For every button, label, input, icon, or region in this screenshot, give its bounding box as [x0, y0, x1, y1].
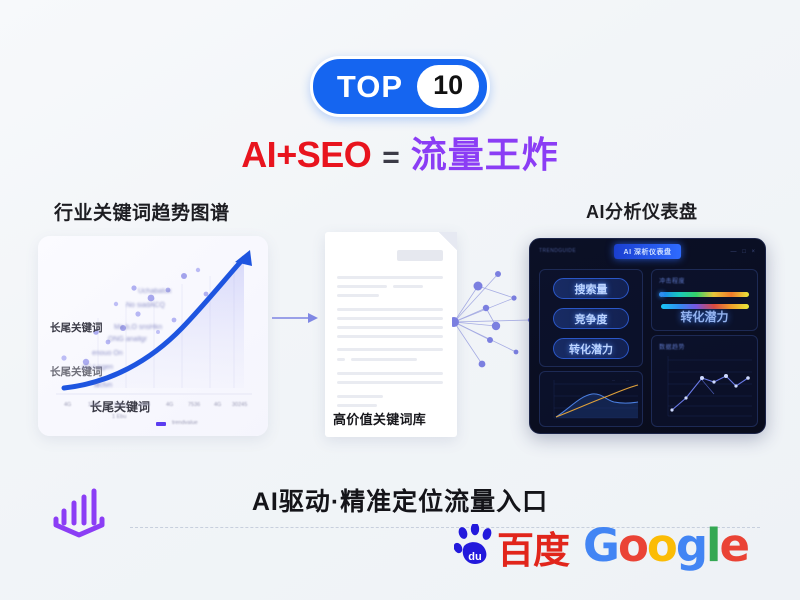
doc-line [337, 294, 379, 297]
axis-caption: 1 Ebu [112, 414, 126, 420]
metrics-panel: 搜索量 竞争度 转化潜力 [539, 269, 643, 367]
axis-tick-2: 1145 [88, 402, 100, 408]
cloud-term-7: alctvn [94, 382, 112, 389]
cloud-term-5: enouo On [92, 350, 123, 357]
partner-logos: du 百度 Google [454, 524, 748, 568]
window-controls[interactable]: — □ × [731, 249, 757, 255]
doc-line [337, 381, 443, 384]
area-legend-a: — [612, 378, 615, 382]
axis-tick-7: 4G [214, 402, 221, 408]
ai-dashboard-card: TRENDGUIDE AI 深析仪表盘 — □ × 搜索量 竞争度 转化潜力 冲… [529, 238, 766, 434]
doc-line [351, 358, 417, 361]
page-fold-corner [439, 232, 457, 250]
baidu-logo: du 百度 [454, 524, 569, 568]
doc-header-block [397, 250, 443, 261]
baidu-du-text: du [468, 551, 481, 563]
gradient-bar-1 [661, 292, 749, 297]
area-legend-b: — [626, 378, 629, 382]
metric-button-search-volume[interactable]: 搜索量 [553, 278, 629, 299]
flow-arrow-1 [272, 310, 320, 331]
axis-tick-3: 031-L [114, 402, 128, 408]
dashboard-titlebar: TRENDGUIDE AI 深析仪表盘 — □ × [530, 239, 765, 265]
doc-line [393, 285, 423, 288]
cloud-term-6: eC-t-ngen [82, 364, 113, 371]
badge-number: 10 [417, 65, 479, 108]
metric-button-competition[interactable]: 竞争度 [553, 308, 629, 329]
badge-label: TOP [337, 71, 417, 102]
dashboard-header-badge: AI 深析仪表盘 [614, 244, 682, 259]
cloud-term-3: Ma,b,O snsHkn [114, 324, 162, 331]
heading-trend-chart: 行业关键词趋势图谱 [54, 198, 230, 225]
axis-tick-8: 30245 [232, 402, 247, 408]
google-letter-g2: g [676, 519, 706, 572]
axis-tick-5: 4G [166, 402, 173, 408]
keyword-document-card: 高价值关键词库 [325, 232, 457, 437]
heading-ai-dashboard: AI分析仪表盘 [586, 198, 698, 224]
google-letter-g1: G [583, 519, 618, 572]
doc-line [337, 317, 443, 320]
doc-line [337, 276, 443, 279]
doc-bullet [337, 358, 345, 361]
axis-tick-6: 7536 [188, 402, 200, 408]
bottom-tagline: AI驱动·精准定位流量入口 [0, 482, 800, 518]
doc-line [337, 285, 387, 288]
cloud-term-1: Uchabatux [138, 288, 171, 295]
title-ai-seo: AI+SEO [241, 134, 371, 176]
gauge-marker-dot [659, 292, 664, 297]
google-letter-l: l [706, 519, 719, 572]
axis-tick-4: 1844 [138, 402, 150, 408]
doc-line [337, 326, 443, 329]
legend-label: trendvalue [172, 420, 198, 426]
top-badge-container: TOP 10 [0, 56, 800, 117]
cloud-term-2: No siadACQ [126, 302, 165, 309]
area-chart-panel: — — [539, 371, 643, 427]
baidu-paw-icon: du [454, 524, 496, 568]
doc-line [337, 335, 443, 338]
title-equals: = [382, 141, 400, 175]
impact-gauge-panel: 冲击程度 转化潜力 [651, 269, 758, 331]
main-title: AI+SEO = 流量王炸 [0, 126, 800, 178]
cloud-term-4: ONG anallgr [108, 336, 147, 343]
doc-line [337, 404, 377, 407]
metric-button-conversion[interactable]: 转化潜力 [553, 338, 629, 359]
doc-line [337, 348, 443, 351]
doc-line [337, 372, 443, 375]
doc-line [337, 395, 383, 398]
dashboard-brand: TRENDGUIDE [539, 248, 576, 254]
top-badge: TOP 10 [310, 56, 490, 117]
google-logo: Google [583, 525, 748, 568]
keyword-label-1: 长尾关键词 [50, 320, 103, 335]
baidu-wordmark: 百度 [497, 534, 569, 568]
node-network-graph [452, 268, 534, 383]
google-letter-o1: o [618, 519, 647, 572]
title-traffic: 流量王炸 [411, 126, 559, 178]
document-label: 高价值关键词库 [333, 409, 426, 428]
axis-tick-1: 4G [64, 402, 71, 408]
google-letter-o2: o [647, 519, 676, 572]
trend-line-panel: 数据趋势 [651, 335, 758, 427]
google-letter-e: e [719, 519, 748, 572]
gauge-panel-title: 冲击程度 [659, 276, 685, 285]
legend-swatch [156, 422, 166, 426]
gauge-overlay-label: 转化潜力 [652, 308, 757, 325]
doc-line [337, 308, 443, 311]
trend-chart-card: 长尾关键词 长尾关键词 长尾关键词 Uchabatux No siadACQ M… [38, 236, 268, 436]
